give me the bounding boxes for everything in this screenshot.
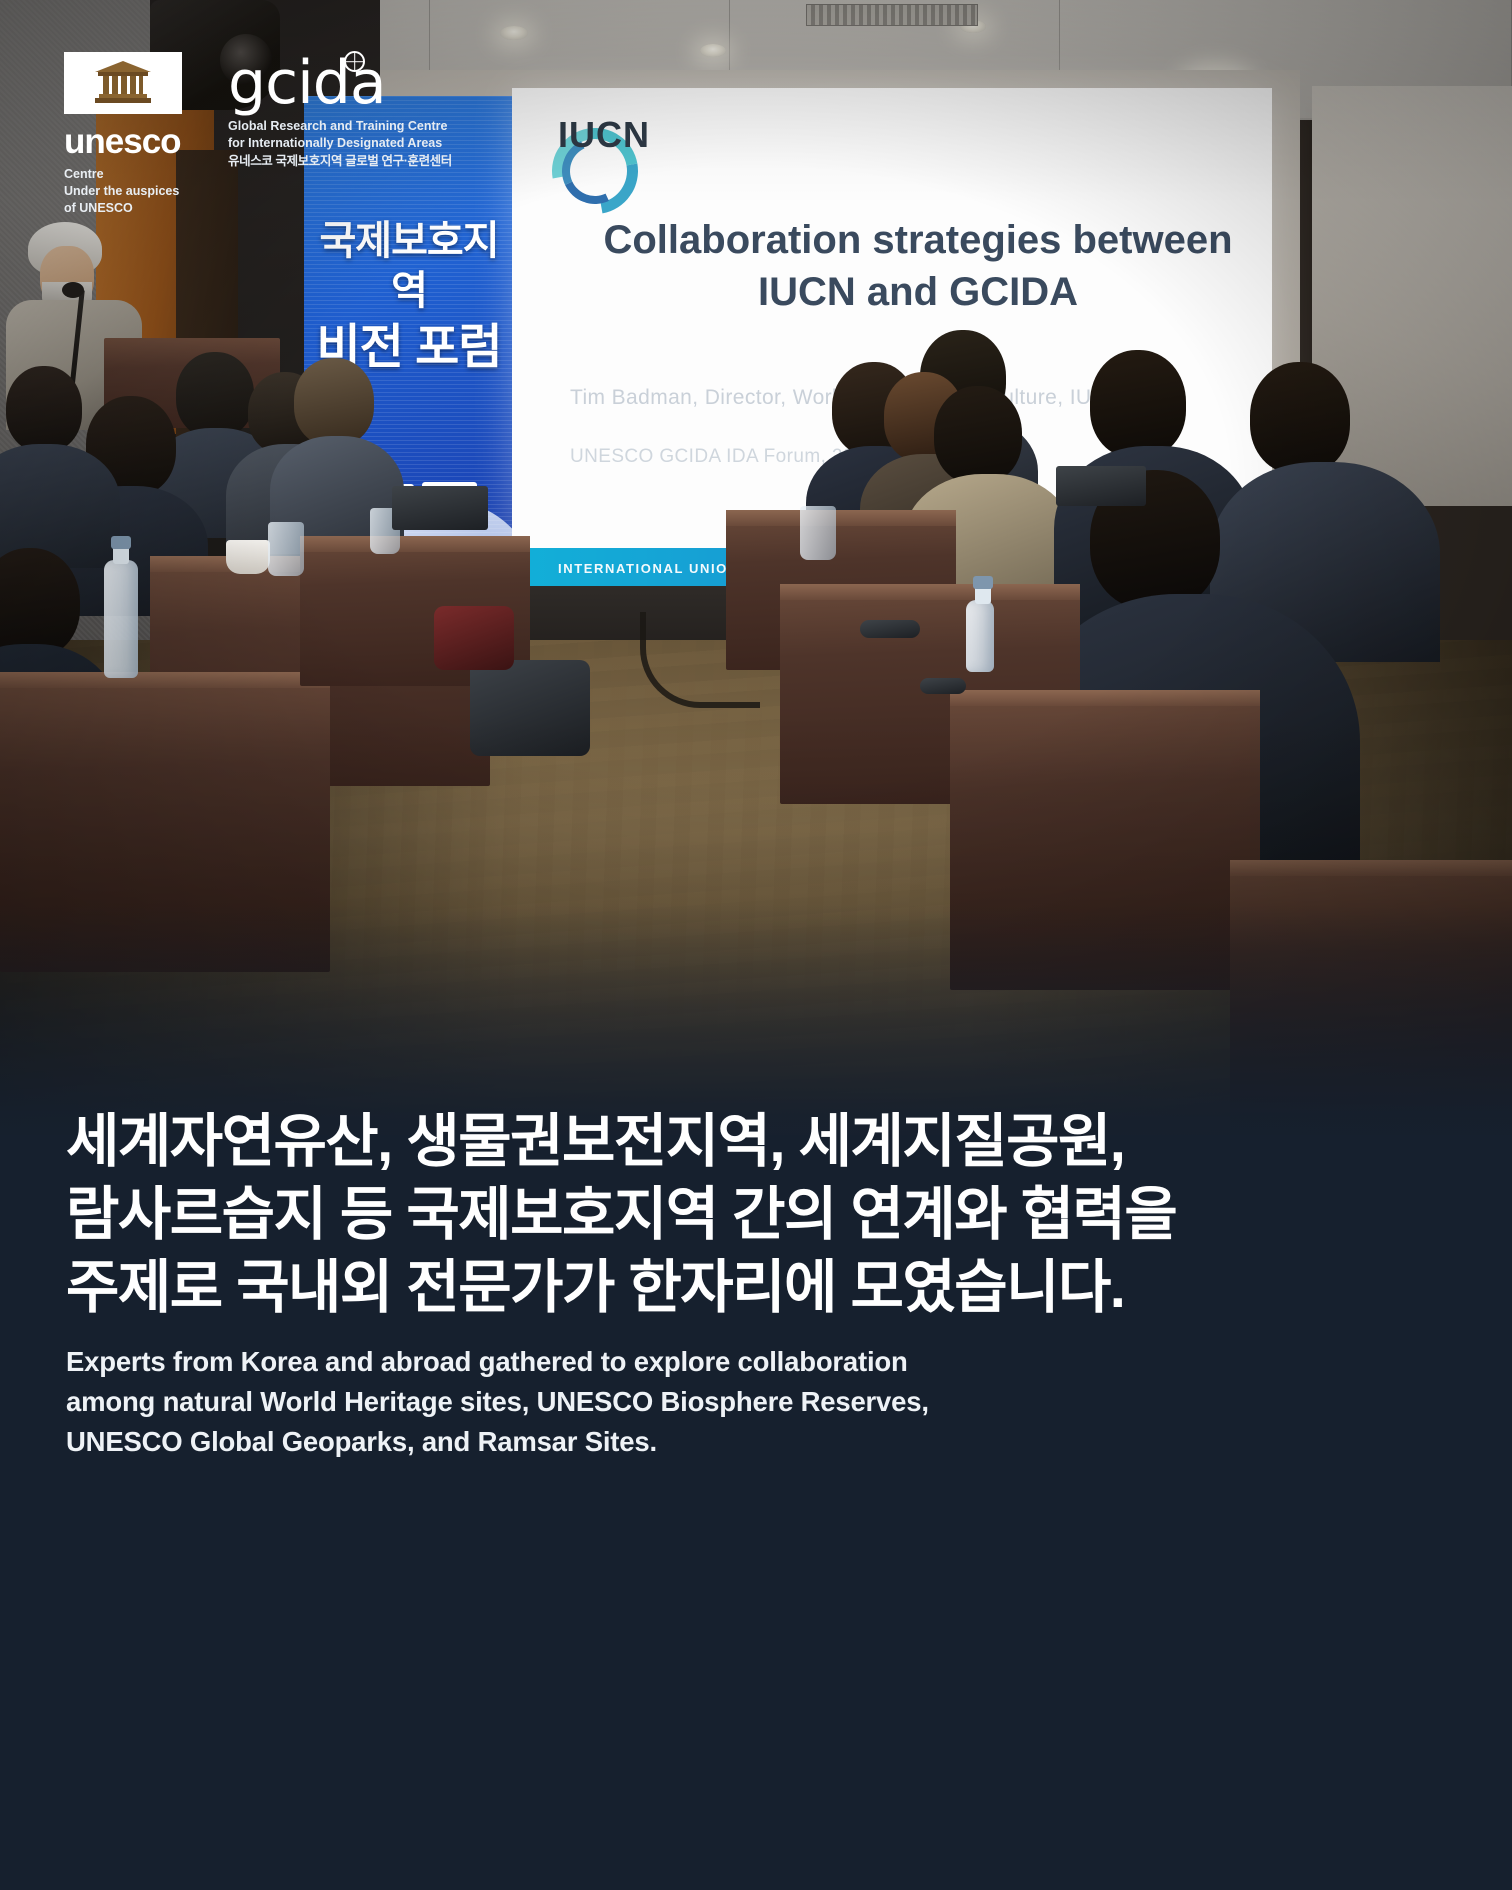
banner-title: 국제보호지역 비전 포럼 — [304, 216, 514, 378]
head — [6, 366, 82, 452]
unesco-tagline: Centre Under the auspices of UNESCO — [64, 166, 204, 216]
water-bottle — [966, 600, 994, 672]
gcida-tagline-line-2: for Internationally Designated Areas — [228, 135, 452, 152]
laptop — [392, 486, 488, 530]
iucn-wordmark: IUCN — [558, 114, 650, 156]
eyeglasses — [860, 620, 920, 638]
slide-title: Collaboration strategies between IUCN an… — [572, 214, 1264, 318]
bottle-cap — [973, 576, 993, 589]
gcida-tagline-line-3: 유네스코 국제보호지역 글로벌 연구·훈련센터 — [228, 153, 452, 170]
gcida-logo: gcida Global Research and Training Centr… — [228, 52, 452, 170]
table-top — [950, 690, 1260, 706]
caption-panel: 세계자연유산, 생물권보전지역, 세계지질공원, 람사르습지 등 국제보호지역 … — [0, 1135, 1512, 1890]
table-top — [726, 510, 956, 526]
microphone-icon — [62, 282, 84, 298]
globe-dot-icon — [344, 51, 365, 72]
head — [934, 386, 1022, 484]
table-top — [300, 536, 530, 552]
headline-line-1: 세계자연유산, 생물권보전지역, 세계지질공원, — [66, 1105, 1452, 1178]
banner-line-1: 국제보호지역 — [320, 219, 499, 313]
ceiling-light — [700, 44, 726, 57]
promo-card: 국제보호지역 비전 포럼 gcida unesco 환경부 IUCN Colla… — [0, 0, 1512, 1890]
subtext-line-3: UNESCO Global Geoparks, and Ramsar Sites… — [66, 1422, 1182, 1462]
overlay-logos: unesco Centre Under the auspices of UNES… — [64, 52, 452, 216]
laptop — [1056, 466, 1146, 506]
water-glass — [800, 506, 836, 560]
red-bag — [434, 606, 514, 670]
subtext-line-1: Experts from Korea and abroad gathered t… — [66, 1342, 1182, 1382]
unesco-tagline-line-1: Centre — [64, 166, 204, 183]
caption-headline: 세계자연유산, 생물권보전지역, 세계지질공원, 람사르습지 등 국제보호지역 … — [66, 1105, 1452, 1324]
ceiling-light — [500, 26, 528, 40]
caption-subtext: Experts from Korea and abroad gathered t… — [66, 1342, 1182, 1462]
unesco-tagline-line-3: of UNESCO — [64, 200, 204, 217]
head — [294, 358, 374, 446]
gcida-tagline: Global Research and Training Centre for … — [228, 118, 452, 170]
unesco-tagline-line-2: Under the auspices — [64, 183, 204, 200]
head — [1090, 350, 1186, 458]
head — [176, 352, 254, 438]
bottle-cap — [111, 536, 131, 549]
unesco-logo: unesco Centre Under the auspices of UNES… — [64, 52, 204, 216]
water-bottle — [104, 560, 138, 678]
unesco-wordmark: unesco — [64, 124, 204, 159]
table-top — [780, 584, 1080, 600]
remote-control — [920, 678, 966, 694]
ceiling-vent — [806, 4, 978, 26]
headline-line-2: 람사르습지 등 국제보호지역 간의 연계와 협력을 — [66, 1178, 1452, 1251]
headline-line-3: 주제로 국내외 전문가가 한자리에 모였습니다. — [66, 1251, 1452, 1324]
coffee-cup — [226, 540, 270, 574]
table-top — [1230, 860, 1512, 876]
unesco-temple-emblem-icon — [64, 52, 182, 114]
water-glass — [268, 522, 304, 576]
head — [1250, 362, 1350, 474]
table-top — [0, 672, 330, 688]
gcida-tagline-line-1: Global Research and Training Centre — [228, 118, 452, 135]
subtext-line-2: among natural World Heritage sites, UNES… — [66, 1382, 1182, 1422]
backpack — [470, 660, 590, 756]
gcida-wordmark: gcida — [228, 56, 452, 110]
